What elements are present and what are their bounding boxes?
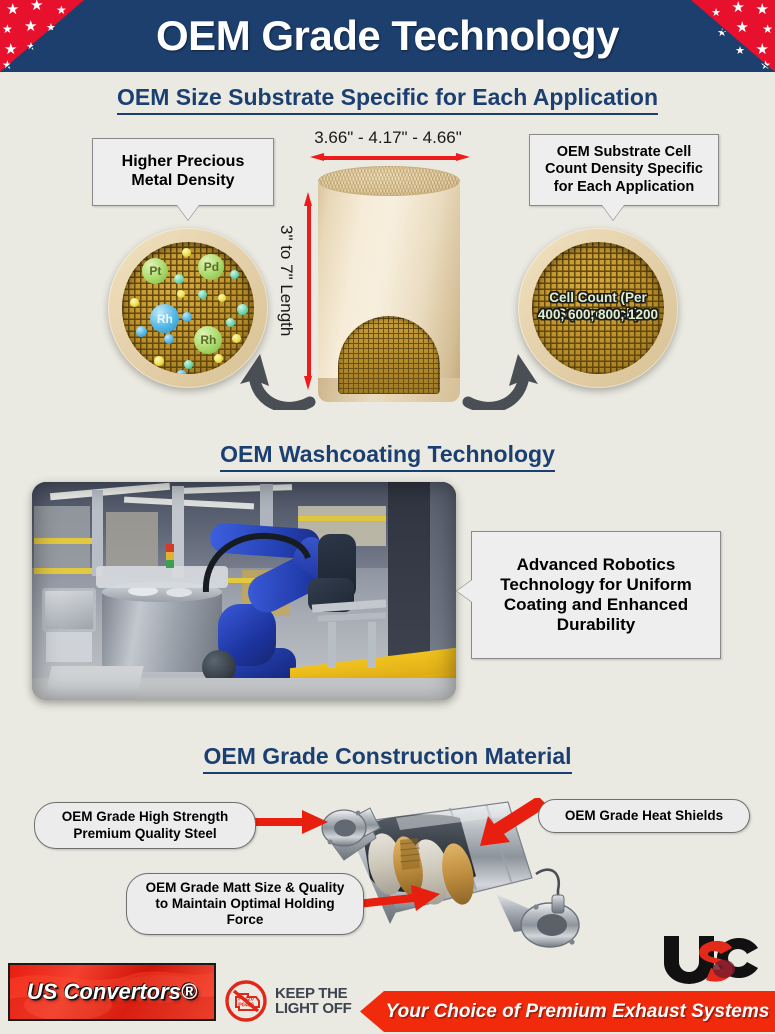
particle-dot	[237, 304, 248, 315]
infographic-page: ★ ★ ★ ★ ★ ★ ★ ★ ★ OEM Grade Technology ★…	[0, 0, 775, 1034]
callout-precious-metal-density: Higher Precious Metal Density	[92, 138, 274, 206]
particle-dot	[230, 270, 239, 279]
particle-dot	[154, 356, 164, 366]
particle-dot	[232, 334, 241, 343]
callout-text: Higher Precious Metal Density	[101, 153, 265, 191]
tagline-text: Your Choice of Premium Exhaust Systems	[366, 1001, 770, 1023]
cell-count-values: 400, 600, 800, 1200	[532, 307, 663, 323]
substrate-cylinder	[318, 166, 460, 402]
callout-tail	[602, 205, 624, 220]
cylinder-honeycomb-top	[318, 166, 460, 196]
particle-dot	[177, 290, 185, 298]
particle-dot	[184, 360, 193, 369]
particle-pt: Pt	[142, 258, 168, 284]
robotics-factory-photo	[32, 482, 456, 700]
us-convertors-badge: US Convertors®	[8, 963, 216, 1021]
callout-premium-steel: OEM Grade High Strength Premium Quality …	[34, 802, 256, 849]
section-heading-construction: OEM Grade Construction Material	[0, 743, 775, 770]
header-banner: ★ ★ ★ ★ ★ ★ ★ ★ ★ OEM Grade Technology ★…	[0, 0, 775, 72]
section-heading-substrate: OEM Size Substrate Specific for Each App…	[0, 84, 775, 111]
callout-cell-count-density: OEM Substrate Cell Count Density Specifi…	[529, 134, 719, 206]
arrow-head-right	[456, 153, 470, 161]
keep-light-off-line1: KEEP THE	[275, 986, 351, 1001]
honeycomb-fill: Pt Pd Rh Rh	[122, 242, 253, 373]
particle-pd: Pd	[198, 254, 224, 280]
keep-light-off-text: KEEP THE LIGHT OFF	[275, 986, 351, 1017]
particle-dot	[130, 298, 139, 307]
arrow-to-matt	[356, 880, 442, 914]
callout-matt-size: OEM Grade Matt Size & Quality to Maintai…	[126, 873, 364, 935]
logo-accent-ellipse	[713, 960, 735, 978]
arrow-to-steel	[250, 808, 330, 836]
callout-advanced-robotics: Advanced Robotics Technology for Uniform…	[471, 531, 721, 659]
tagline-banner: Your Choice of Premium Exhaust Systems	[360, 991, 775, 1032]
callout-tail	[177, 205, 199, 220]
cell-count-zoom-circle: Cell Count (Per Square Inch) 400, 600, 8…	[518, 228, 678, 388]
keep-light-off-line2: LIGHT OFF	[275, 1001, 351, 1016]
particle-dot	[174, 274, 184, 284]
particle-dot	[218, 294, 226, 302]
brand-name: US Convertors®	[27, 979, 197, 1005]
particle-dot	[136, 326, 147, 337]
dtc-code-2: P0430	[238, 1003, 254, 1009]
particle-rh-green: Rh	[194, 326, 222, 354]
particle-rh-blue: Rh	[150, 304, 179, 333]
keep-the-light-off-badge: P0420 P0430 KEEP THE LIGHT OFF	[224, 976, 364, 1026]
honeycomb-fill: Cell Count (Per Square Inch) 400, 600, 8…	[532, 242, 663, 373]
particle-dot	[226, 318, 235, 327]
no-check-engine-icon: P0420 P0430	[224, 979, 268, 1023]
particle-dot	[164, 334, 174, 344]
particle-dot	[198, 290, 207, 299]
arrow-bar	[320, 156, 460, 160]
usc-logo	[658, 932, 762, 984]
callout-heat-shields: OEM Grade Heat Shields	[538, 799, 750, 833]
particle-dot	[182, 248, 191, 257]
particle-dot	[182, 312, 192, 322]
particle-dot	[214, 354, 223, 363]
page-title: OEM Grade Technology	[0, 0, 775, 72]
diameter-label: 3.66" - 4.17" - 4.66"	[288, 128, 488, 148]
section-heading-washcoating: OEM Washcoating Technology	[0, 441, 775, 468]
precious-metal-zoom-circle: Pt Pd Rh Rh	[108, 228, 268, 388]
callout-text: Advanced Robotics Technology for Uniform…	[482, 555, 710, 635]
diameter-arrow	[310, 153, 470, 162]
particle-dot	[176, 370, 187, 373]
callout-text: OEM Substrate Cell Count Density Specifi…	[538, 144, 710, 195]
callout-tail	[457, 580, 472, 602]
